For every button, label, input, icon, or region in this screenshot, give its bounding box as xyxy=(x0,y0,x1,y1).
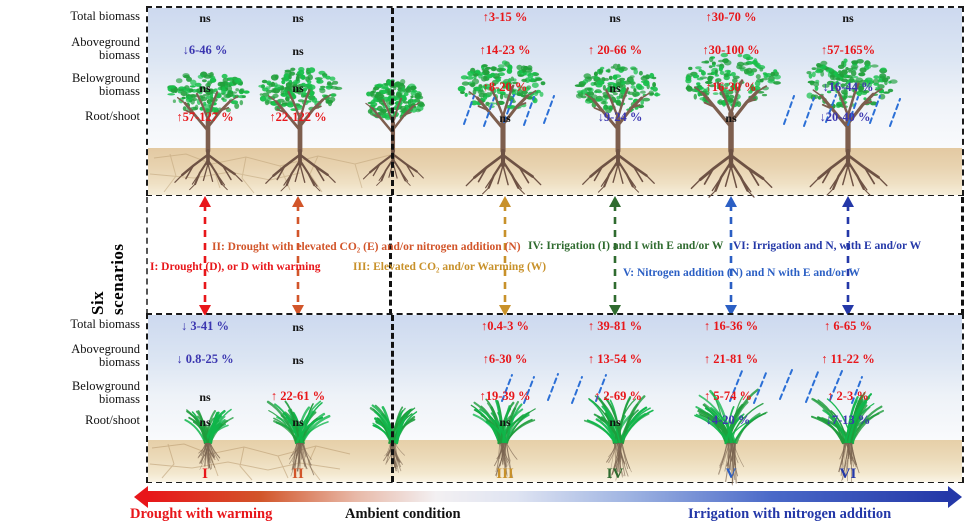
cell-bottom-rootshoot-IV: ns xyxy=(609,415,620,430)
cell-top-total-VI: ns xyxy=(842,11,853,26)
cell-bottom-below-I: ns xyxy=(199,390,210,405)
cell-top-total-I: ns xyxy=(199,11,210,26)
cell-top-below-V: ↑16-30 % xyxy=(705,80,756,95)
scenario-label-V: V: Nitrogen addition (N) and N with E an… xyxy=(623,267,860,279)
row-label-belowground-biomass-bottom: Belowgroundbiomass xyxy=(0,380,140,406)
cell-bottom-above-VI: ↑ 11-22 % xyxy=(821,352,874,367)
cell-top-total-IV: ns xyxy=(609,11,620,26)
cell-bottom-above-IV: ↑ 13-54 % xyxy=(588,352,642,367)
scenario-label-III: III: Elevated CO₂ and/or Warming (W) xyxy=(353,261,546,273)
cell-bottom-rootshoot-II: ns xyxy=(292,415,303,430)
cell-bottom-above-I: ↓ 0.8-25 % xyxy=(176,352,233,367)
cell-top-rootshoot-VI: ↓20-40 % xyxy=(819,110,870,125)
cell-bottom-above-V: ↑ 21-81 % xyxy=(704,352,758,367)
cell-top-above-VI: ↑57-165% xyxy=(821,43,875,58)
cell-top-rootshoot-I: ↑57-127 % xyxy=(176,110,233,125)
scenario-label-I: I: Drought (D), or D with warming xyxy=(150,261,320,273)
row-label-belowground-biomass-top: Belowgroundbiomass xyxy=(0,72,140,98)
cell-bottom-below-IV: ↑ 2-69 % xyxy=(594,389,642,404)
cell-bottom-total-V: ↑ 16-36 % xyxy=(704,319,758,334)
axis-roman-III: III xyxy=(496,466,514,483)
axis-roman-I: I xyxy=(202,466,208,483)
cell-top-rootshoot-IV: ↓9-24 % xyxy=(598,110,643,125)
scenario-label-VI: VI: Irrigation and N, with E and/or W xyxy=(733,240,921,252)
cell-top-above-V: ↑30-100 % xyxy=(702,43,759,58)
gradient-bar xyxy=(148,491,948,502)
caption-ambient-condition: Ambient condition xyxy=(345,506,461,523)
row-label-root-shoot-bottom: Root/shoot xyxy=(0,414,140,427)
cell-bottom-rootshoot-V: ↓4-20 % xyxy=(706,413,751,428)
cell-bottom-below-VI: ↑ 2-3 % xyxy=(827,389,869,404)
cell-bottom-rootshoot-I: ns xyxy=(199,415,210,430)
gradient-arrow-left-head xyxy=(134,486,148,508)
cell-top-below-I: ns xyxy=(199,81,210,96)
cell-bottom-total-III: ↑0.4-3 % xyxy=(481,319,529,334)
caption-drought-with-warming: Drought with warming xyxy=(130,506,272,523)
woody-plant-panel xyxy=(146,6,964,196)
cell-bottom-above-III: ↑6-30 % xyxy=(483,352,528,367)
cell-top-total-III: ↑3-15 % xyxy=(483,10,528,25)
row-label-aboveground-biomass-top: Abovegroundbiomass xyxy=(0,36,140,62)
cell-top-above-IV: ↑ 20-66 % xyxy=(588,43,642,58)
cell-top-below-VI: ↓16-44 % xyxy=(822,80,873,95)
cell-bottom-total-II: ns xyxy=(292,320,303,335)
cell-bottom-rootshoot-VI: ↓7-13 % xyxy=(826,413,871,428)
gradient-arrow-right-head xyxy=(948,486,962,508)
cell-bottom-rootshoot-III: ns xyxy=(499,415,510,430)
cell-top-above-II: ns xyxy=(292,44,303,59)
scenario-arrows xyxy=(0,196,964,316)
figure-root: Total biomass Abovegroundbiomass Belowgr… xyxy=(0,0,964,528)
axis-roman-IV: IV xyxy=(607,466,624,483)
row-label-aboveground-biomass-bottom: Abovegroundbiomass xyxy=(0,343,140,369)
cell-top-total-II: ns xyxy=(292,11,303,26)
cell-top-below-IV: ns xyxy=(609,81,620,96)
scenario-label-II: II: Drought with elevated CO₂ (E) and/or… xyxy=(212,241,521,253)
cell-bottom-below-V: ↑ 5-74 % xyxy=(704,389,752,404)
ambient-divider-top xyxy=(391,8,394,195)
scenario-label-IV: IV: Irrigation (I) and I with E and/or W xyxy=(528,240,723,252)
cell-top-above-III: ↑14-23 % xyxy=(479,43,530,58)
cell-bottom-below-II: ↑ 22-61 % xyxy=(271,389,325,404)
rain-icon-top-v xyxy=(458,94,568,130)
row-label-total-biomass-bottom: Total biomass xyxy=(0,318,140,331)
cell-top-below-II: ns xyxy=(292,81,303,96)
cell-top-below-III: ↑8-20 % xyxy=(483,80,528,95)
cell-top-rootshoot-II: ↑22-122 % xyxy=(269,110,326,125)
row-label-total-biomass-top: Total biomass xyxy=(0,10,140,23)
cell-top-rootshoot-III: ns xyxy=(499,111,510,126)
row-label-root-shoot-top: Root/shoot xyxy=(0,110,140,123)
axis-roman-VI: VI xyxy=(840,466,857,483)
cell-top-rootshoot-V: ns xyxy=(725,111,736,126)
cell-bottom-below-III: ↑19-39 % xyxy=(479,389,530,404)
cell-top-above-I: ↓6-46 % xyxy=(183,43,228,58)
caption-irrigation-with-nitrogen: Irrigation with nitrogen addition xyxy=(688,506,891,523)
cell-bottom-total-I: ↓ 3-41 % xyxy=(181,319,229,334)
cell-bottom-above-II: ns xyxy=(292,353,303,368)
cell-top-total-V: ↑30-70 % xyxy=(705,10,756,25)
cell-bottom-total-IV: ↑ 39-81 % xyxy=(588,319,642,334)
cell-bottom-total-VI: ↑ 6-65 % xyxy=(824,319,872,334)
axis-roman-II: II xyxy=(292,466,304,483)
axis-roman-V: V xyxy=(726,466,737,483)
ambient-divider-bottom xyxy=(391,315,394,482)
